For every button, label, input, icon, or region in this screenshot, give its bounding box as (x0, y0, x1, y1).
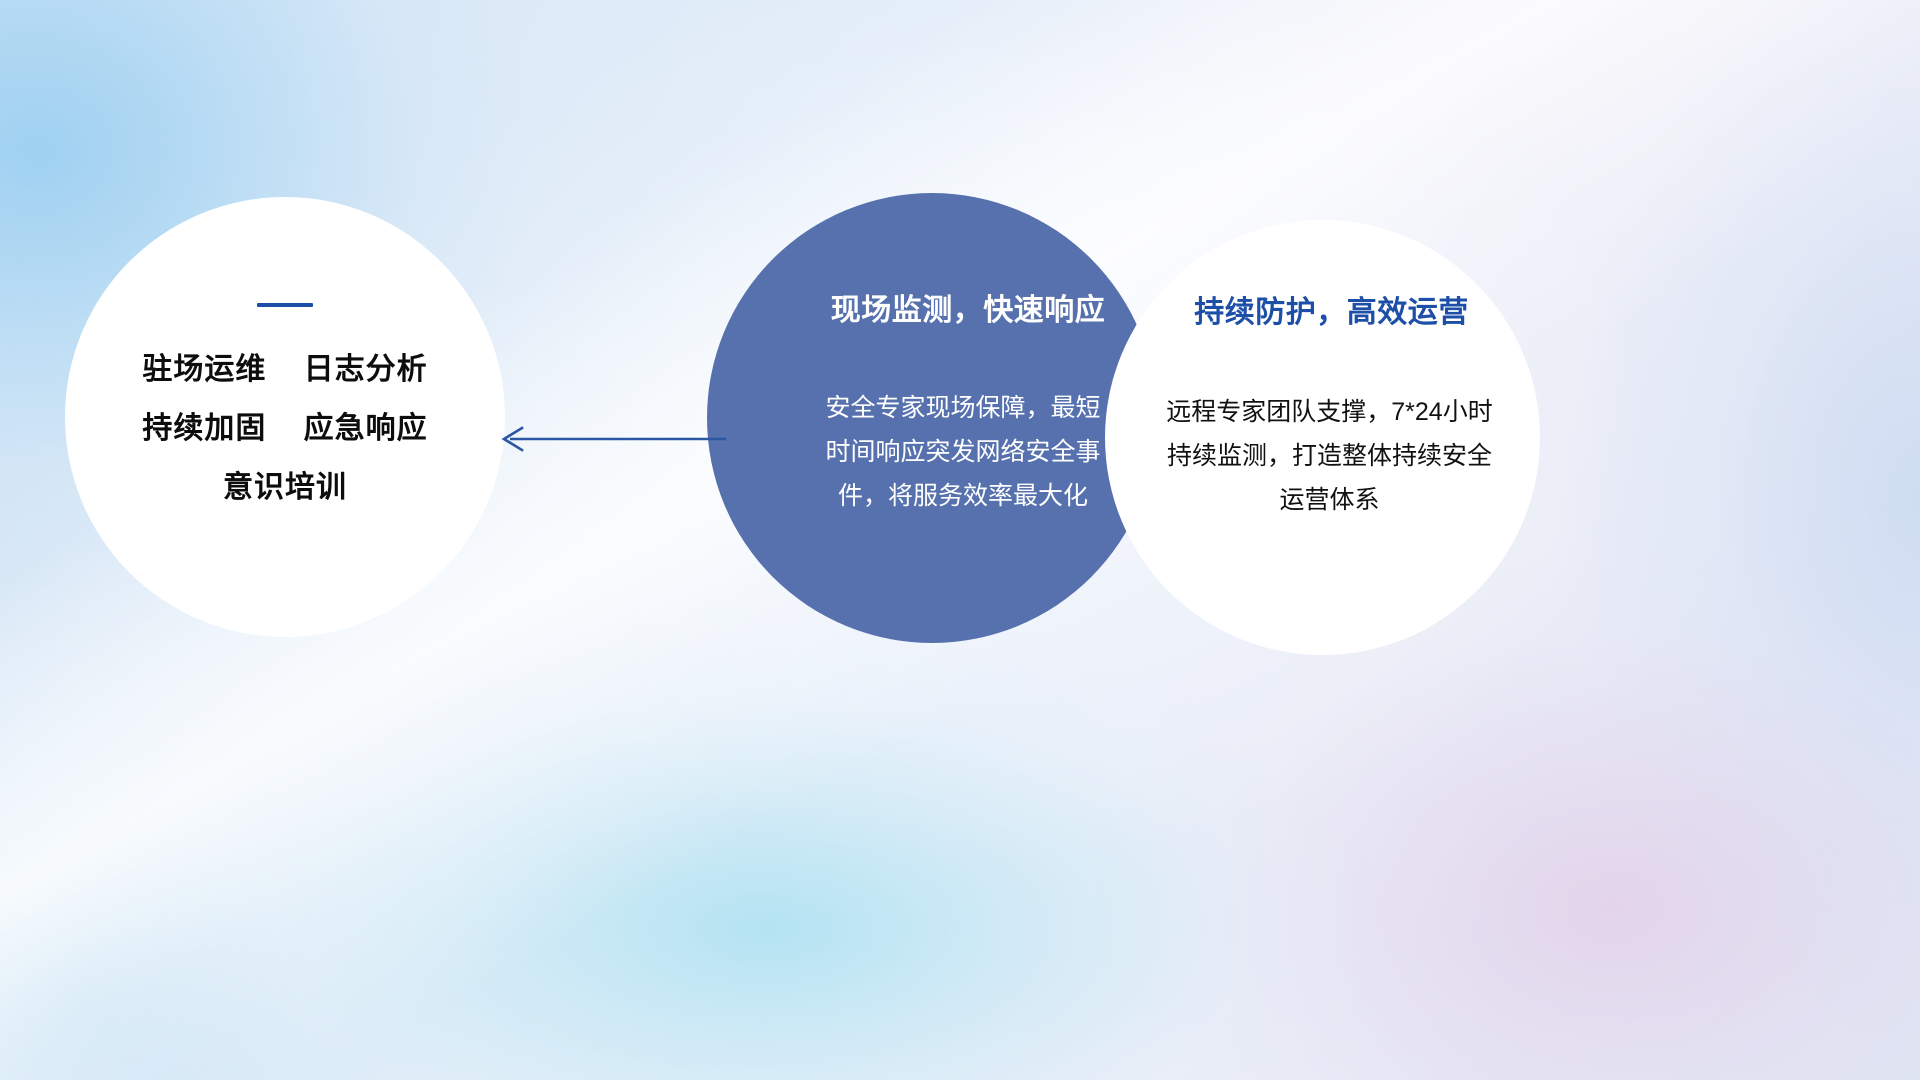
circle-continuous-protection-title: 持续防护，高效运营 (1194, 298, 1469, 328)
circle-onsite-monitoring-content: 现场监测，快速响应 安全专家现场保障，最短时间响应突发网络安全事件，将服务效率最… (707, 193, 1157, 643)
circle-continuous-protection-content: 持续防护，高效运营 远程专家团队支撑，7*24小时持续监测，打造整体持续安全运营… (1105, 220, 1540, 655)
circle-onsite-monitoring-body: 安全专家现场保障，最短时间响应突发网络安全事件，将服务效率最大化 (818, 386, 1108, 518)
circle-service-capabilities[interactable]: 驻场运维 日志分析 持续加固 应急响应 意识培训 (65, 197, 505, 637)
slide-canvas: 现场监测，快速响应 安全专家现场保障，最短时间响应突发网络安全事件，将服务效率最… (0, 0, 1920, 1080)
connector-arrow (488, 418, 728, 460)
circle-onsite-monitoring[interactable]: 现场监测，快速响应 安全专家现场保障，最短时间响应突发网络安全事件，将服务效率最… (707, 193, 1157, 643)
capability-line-3: 意识培训 (223, 473, 347, 503)
title-divider-rule (257, 303, 313, 307)
circle-continuous-protection-body: 远程专家团队支撑，7*24小时持续监测，打造整体持续安全运营体系 (1156, 390, 1504, 522)
circle-onsite-monitoring-title: 现场监测，快速响应 (831, 296, 1106, 326)
capability-line-2: 持续加固 应急响应 (142, 414, 427, 444)
circle-service-capabilities-content: 驻场运维 日志分析 持续加固 应急响应 意识培训 (65, 197, 505, 637)
circle-continuous-protection[interactable]: 持续防护，高效运营 远程专家团队支撑，7*24小时持续监测，打造整体持续安全运营… (1105, 220, 1540, 655)
capability-line-1: 驻场运维 日志分析 (142, 355, 427, 385)
